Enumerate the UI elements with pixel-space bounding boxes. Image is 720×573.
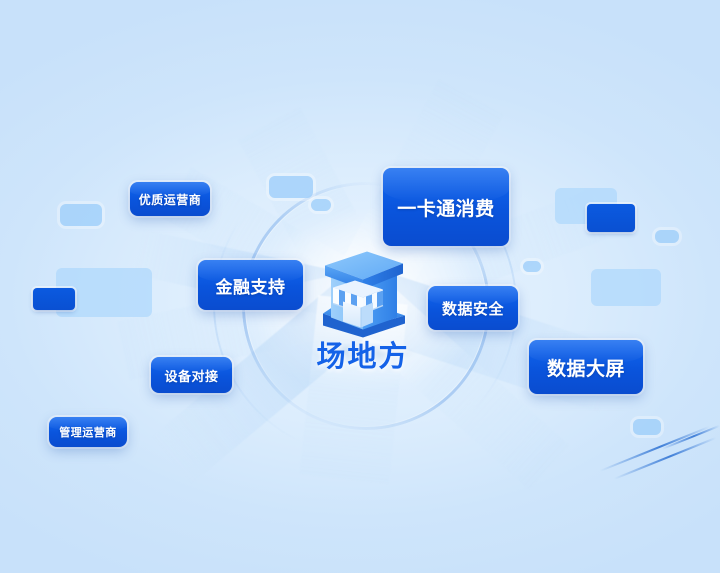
label-chip-managing-operator[interactable]: 管理运营商 (49, 417, 127, 447)
label-chip-one-card-payment[interactable]: 一卡通消费 (383, 168, 509, 246)
label-chip-premium-operator[interactable]: 优质运营商 (130, 182, 210, 216)
label-chip-text: 管理运营商 (59, 424, 117, 440)
label-chip-text: 优质运营商 (139, 191, 202, 208)
label-chip-data-security[interactable]: 数据安全 (428, 286, 518, 330)
label-chip-device-docking[interactable]: 设备对接 (151, 357, 232, 393)
label-chip-text: 一卡通消费 (397, 194, 495, 221)
label-chip-text: 金融支持 (216, 273, 286, 298)
label-chip-group: 优质运营商一卡通消费金融支持数据安全数据大屏设备对接管理运营商 (0, 0, 720, 573)
label-chip-text: 数据大屏 (547, 354, 625, 381)
label-chip-data-dashboard[interactable]: 数据大屏 (529, 340, 643, 394)
infographic-canvas: 场地方 优质运营商一卡通消费金融支持数据安全数据大屏设备对接管理运营商 (0, 0, 720, 573)
label-chip-text: 数据安全 (442, 298, 504, 319)
label-chip-text: 设备对接 (164, 366, 218, 385)
label-chip-financial-support[interactable]: 金融支持 (198, 260, 303, 310)
